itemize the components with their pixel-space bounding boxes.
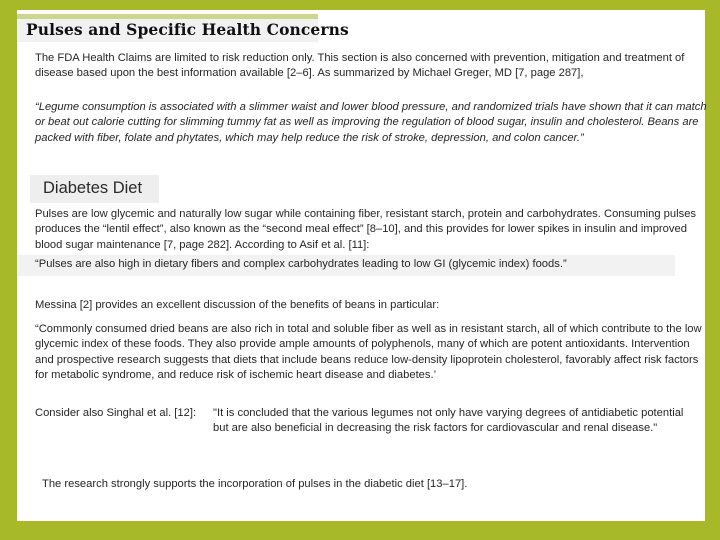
intro-paragraph: The FDA Health Claims are limited to ris…	[35, 51, 713, 82]
asif-quote-highlight-band: “Pulses are also high in dietary fibers …	[17, 255, 675, 276]
page-title: Pulses and Specific Health Concerns	[26, 20, 349, 39]
asif-quote-text: “Pulses are also high in dietary fibers …	[35, 258, 567, 270]
singhal-label: Consider also Singhal et al. [12]:	[35, 406, 213, 421]
section-heading-box: Diabetes Diet	[30, 175, 159, 203]
messina-intro-line: Messina [2] provides an excellent discus…	[35, 298, 707, 313]
greger-quote-paragraph: “Legume consumption is associated with a…	[35, 100, 707, 146]
slide-root: Pulses and Specific Health Concerns The …	[0, 0, 720, 540]
content-panel: Pulses and Specific Health Concerns The …	[13, 10, 705, 521]
messina-quote-paragraph: “Commonly consumed dried beans are also …	[35, 322, 710, 384]
title-banner: Pulses and Specific Health Concerns	[17, 14, 318, 42]
section-heading-diabetes-diet: Diabetes Diet	[43, 179, 142, 198]
singhal-quote: "It is concluded that the various legume…	[213, 406, 695, 437]
closing-statement: The research strongly supports the incor…	[42, 477, 642, 492]
singhal-citation-row: Consider also Singhal et al. [12]: "It i…	[35, 406, 695, 437]
diabetes-diet-paragraph: Pulses are low glycemic and naturally lo…	[35, 207, 700, 253]
title-highlight-box: Pulses and Specific Health Concerns	[17, 19, 318, 42]
